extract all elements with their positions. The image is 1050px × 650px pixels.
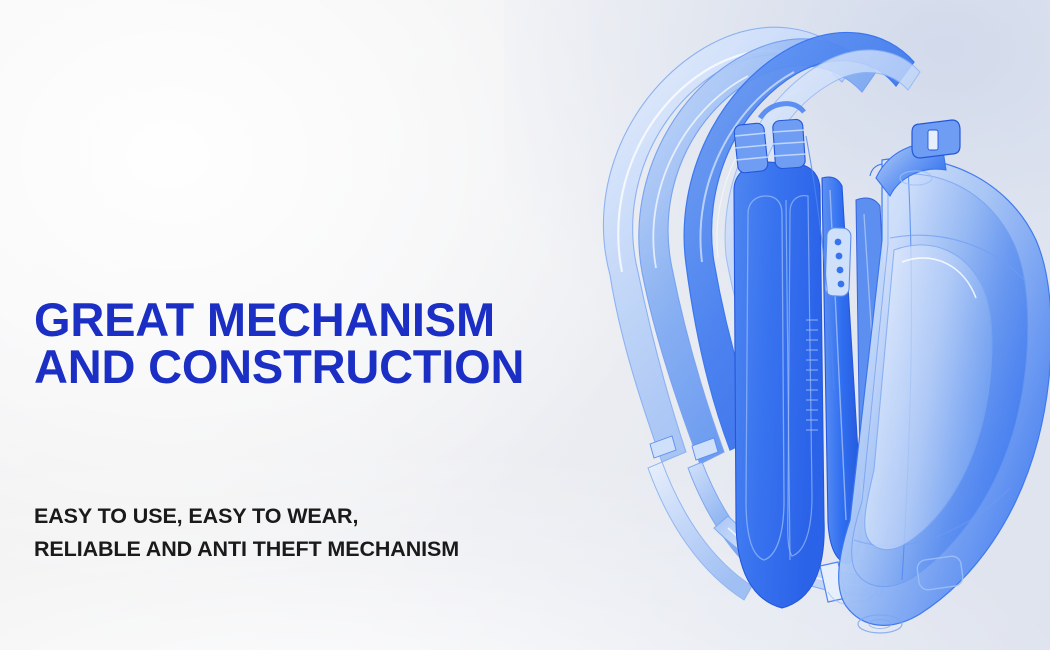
dot-panel-dot-1: [835, 239, 842, 246]
subtitle-block: EASY TO USE, EASY TO WEAR, RELIABLE AND …: [34, 500, 459, 566]
dot-panel-dot-4: [838, 281, 845, 288]
promo-banner: GREAT MECHANISM AND CONSTRUCTION EASY TO…: [0, 0, 1050, 650]
dot-panel-group: [825, 228, 851, 297]
headline-block: GREAT MECHANISM AND CONSTRUCTION: [34, 296, 524, 390]
strap-adjuster-left: [734, 123, 769, 174]
dot-panel-dot-2: [836, 253, 843, 260]
strap-adjuster-right: [772, 119, 806, 169]
back-panel-group: [734, 162, 824, 608]
subtitle-line-1: EASY TO USE, EASY TO WEAR,: [34, 500, 459, 533]
dot-panel-dot-3: [837, 267, 844, 274]
dot-panel: [825, 228, 851, 297]
backpack-illustration: [490, 0, 1050, 650]
flap-clasp-slot: [928, 130, 938, 150]
subtitle-line-2: RELIABLE AND ANTI THEFT MECHANISM: [34, 533, 459, 566]
page-title: GREAT MECHANISM AND CONSTRUCTION: [34, 296, 524, 390]
